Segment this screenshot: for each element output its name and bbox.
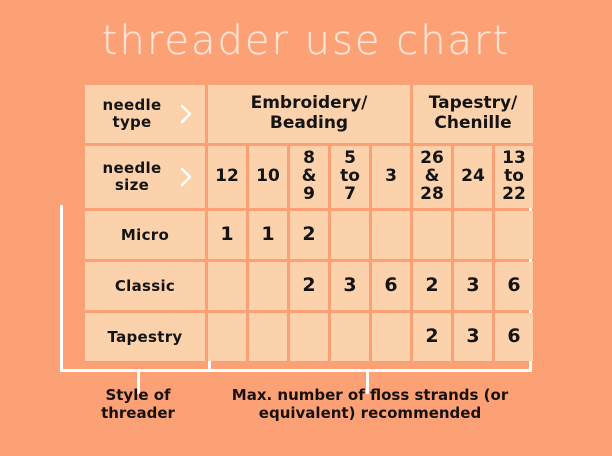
group-tapestry-line1: Tapestry/ xyxy=(429,93,518,113)
strand-cell: 6 xyxy=(495,313,533,361)
page-title: threader use chart xyxy=(0,18,612,64)
caption-style-line1: Style of xyxy=(105,386,170,404)
chevron-right-icon xyxy=(180,167,193,187)
strand-cell xyxy=(495,211,533,259)
needle-type-label-line1: needle xyxy=(103,96,162,114)
table-row: Micro 1 1 2 xyxy=(85,211,533,259)
threader-style-label: Classic xyxy=(85,262,205,310)
strand-cell xyxy=(454,211,492,259)
needle-size-cell: 5to7 xyxy=(331,146,369,208)
strand-cell xyxy=(290,313,328,361)
strand-cell xyxy=(249,313,287,361)
needle-size-cell: 8&9 xyxy=(290,146,328,208)
row-header-needle-size: needle size xyxy=(85,146,205,208)
strand-cell xyxy=(372,211,410,259)
strand-cell: 2 xyxy=(413,313,451,361)
strand-cell: 2 xyxy=(290,211,328,259)
caption-style-line2: threader xyxy=(101,404,175,422)
strand-cell xyxy=(249,262,287,310)
needle-type-label-line2: type xyxy=(112,113,151,131)
group-embroidery-line2: Beading xyxy=(270,113,348,133)
caption-style-of-threader: Style of threader xyxy=(52,386,224,423)
needle-size-cell: 10 xyxy=(249,146,287,208)
row-header-needle-type: needle type xyxy=(85,85,205,143)
needle-size-cell: 26&28 xyxy=(413,146,451,208)
strand-cell: 1 xyxy=(208,211,246,259)
strand-cell xyxy=(208,262,246,310)
threader-use-table: needle type Embroidery/ Beading Tapestry… xyxy=(82,82,530,364)
strand-cell: 3 xyxy=(331,262,369,310)
table-row-needle-size: needle size 12 10 8&9 5to7 3 26&28 24 13… xyxy=(85,146,533,208)
group-header-tapestry-chenille: Tapestry/ Chenille xyxy=(413,85,533,143)
strand-cell: 2 xyxy=(413,262,451,310)
caption-max-line2: equivalent) recommended xyxy=(259,404,481,422)
strand-cell: 6 xyxy=(372,262,410,310)
strand-cell: 3 xyxy=(454,262,492,310)
caption-max-line1: Max. number of floss strands (or xyxy=(232,386,508,404)
strand-cell xyxy=(331,211,369,259)
group-embroidery-line1: Embroidery/ xyxy=(251,93,368,113)
needle-size-label-line2: size xyxy=(115,176,149,194)
group-tapestry-line2: Chenille xyxy=(434,113,511,133)
chart-canvas: threader use chart needle type xyxy=(0,0,612,456)
table-row: Tapestry 2 3 6 xyxy=(85,313,533,361)
needle-size-cell: 3 xyxy=(372,146,410,208)
strand-cell: 6 xyxy=(495,262,533,310)
threader-style-label: Tapestry xyxy=(85,313,205,361)
strand-cell: 3 xyxy=(454,313,492,361)
strand-cell xyxy=(208,313,246,361)
chevron-right-icon xyxy=(180,104,193,124)
threader-style-label: Micro xyxy=(85,211,205,259)
strand-cell xyxy=(372,313,410,361)
needle-size-cell: 24 xyxy=(454,146,492,208)
needle-size-label-line1: needle xyxy=(103,159,162,177)
table-row-needle-type: needle type Embroidery/ Beading Tapestry… xyxy=(85,85,533,143)
strand-cell xyxy=(331,313,369,361)
needle-size-cell: 13to22 xyxy=(495,146,533,208)
table-row: Classic 2 3 6 2 3 6 xyxy=(85,262,533,310)
strand-cell: 2 xyxy=(290,262,328,310)
group-header-embroidery-beading: Embroidery/ Beading xyxy=(208,85,410,143)
strand-cell xyxy=(413,211,451,259)
needle-size-cell: 12 xyxy=(208,146,246,208)
caption-max-floss-strands: Max. number of floss strands (or equival… xyxy=(205,386,535,423)
strand-cell: 1 xyxy=(249,211,287,259)
